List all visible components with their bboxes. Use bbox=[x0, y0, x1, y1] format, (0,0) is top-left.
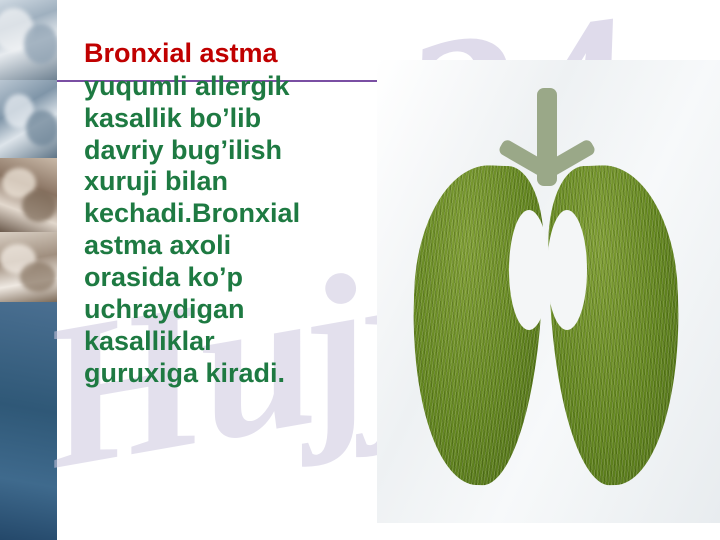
body-line: uchraydigan bbox=[84, 294, 384, 326]
body-line: davriy bug’ilish bbox=[84, 135, 384, 167]
slide-canvas: Hujjat 24 Bronxial astma yuqumli allergi… bbox=[0, 0, 720, 540]
strip-photo-doctor bbox=[0, 80, 57, 158]
lung-gap-left bbox=[509, 210, 549, 330]
page-title: Bronxial astma bbox=[84, 38, 384, 70]
body-line: xuruji bilan bbox=[84, 166, 384, 198]
strip-photo-examination bbox=[0, 158, 57, 232]
lung-gap-right bbox=[547, 210, 587, 330]
strip-photo-blue-panel bbox=[0, 302, 57, 540]
body-line: guruxiga kiradi. bbox=[84, 358, 384, 390]
slide-body-text: yuqumli allergik kasallik bo’lib davriy … bbox=[84, 71, 384, 390]
strip-photo-hands bbox=[0, 232, 57, 302]
strip-photo-medical-staff bbox=[0, 0, 57, 80]
lungs-image bbox=[377, 60, 720, 523]
body-line: kechadi.Bronxial bbox=[84, 198, 384, 230]
body-line: kasallik bo’lib bbox=[84, 103, 384, 135]
slide-text-block: Bronxial astma yuqumli allergik kasallik… bbox=[84, 38, 384, 389]
body-line: astma axoli bbox=[84, 230, 384, 262]
body-line: orasida ko’p bbox=[84, 262, 384, 294]
body-line: kasalliklar bbox=[84, 326, 384, 358]
left-photo-strip bbox=[0, 0, 57, 540]
body-line: yuqumli allergik bbox=[84, 71, 384, 103]
